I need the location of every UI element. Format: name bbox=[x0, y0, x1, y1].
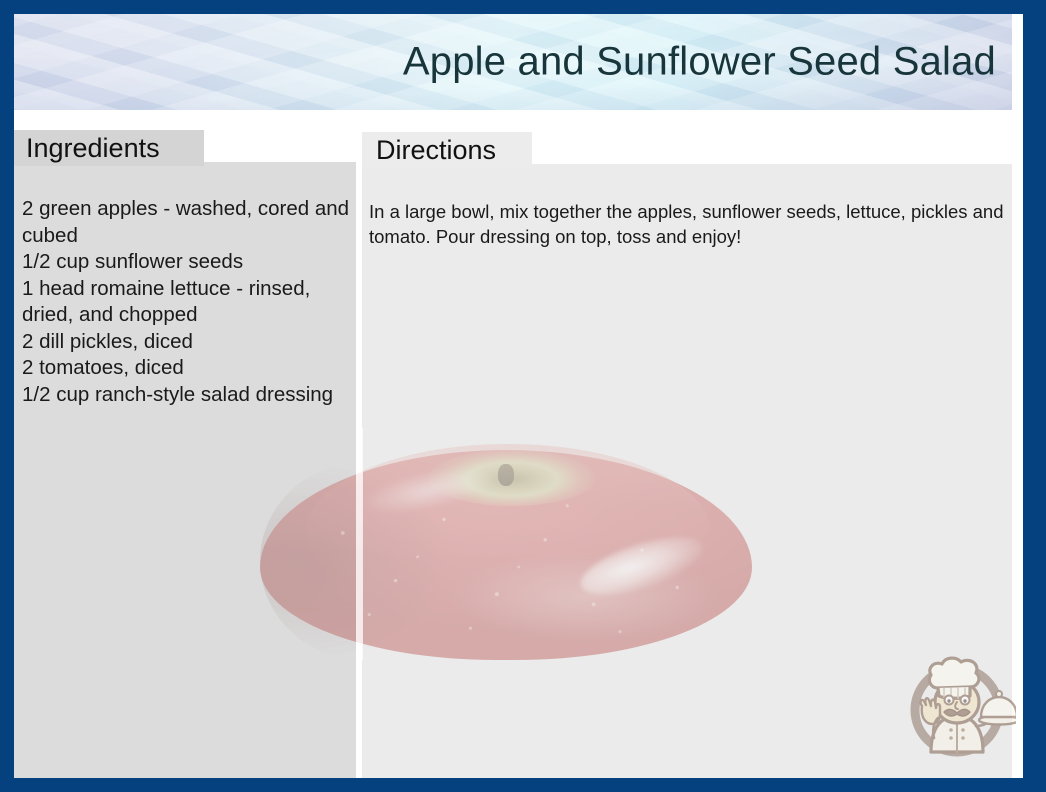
ingredients-tab-label: Ingredients bbox=[26, 135, 160, 162]
list-item: 2 dill pickles, diced bbox=[22, 329, 366, 356]
page-title: Apple and Sunflower Seed Salad bbox=[403, 40, 996, 85]
list-item: 1/2 cup ranch-style salad dressing bbox=[22, 382, 366, 409]
chef-logo-svg bbox=[898, 644, 1016, 762]
list-item: 1 head romaine lettuce - rinsed, dried, … bbox=[22, 276, 366, 329]
directions-tab: Directions bbox=[362, 132, 532, 168]
directions-text: In a large bowl, mix together the apples… bbox=[369, 199, 1009, 249]
list-item: 2 green apples - washed, cored and cubed bbox=[22, 196, 366, 249]
recipe-slide: Apple and Sunflower Seed Salad Ingredien… bbox=[0, 0, 1046, 792]
directions-tab-label: Directions bbox=[376, 137, 496, 164]
chef-mascot-logo bbox=[898, 644, 1016, 762]
list-item: 1/2 cup sunflower seeds bbox=[22, 249, 366, 276]
ingredients-list: 2 green apples - washed, cored and cubed… bbox=[22, 196, 366, 408]
list-item: 2 tomatoes, diced bbox=[22, 355, 366, 382]
ingredients-tab: Ingredients bbox=[14, 130, 204, 166]
slide-page: Apple and Sunflower Seed Salad Ingredien… bbox=[14, 14, 1023, 778]
title-banner: Apple and Sunflower Seed Salad bbox=[14, 14, 1012, 110]
